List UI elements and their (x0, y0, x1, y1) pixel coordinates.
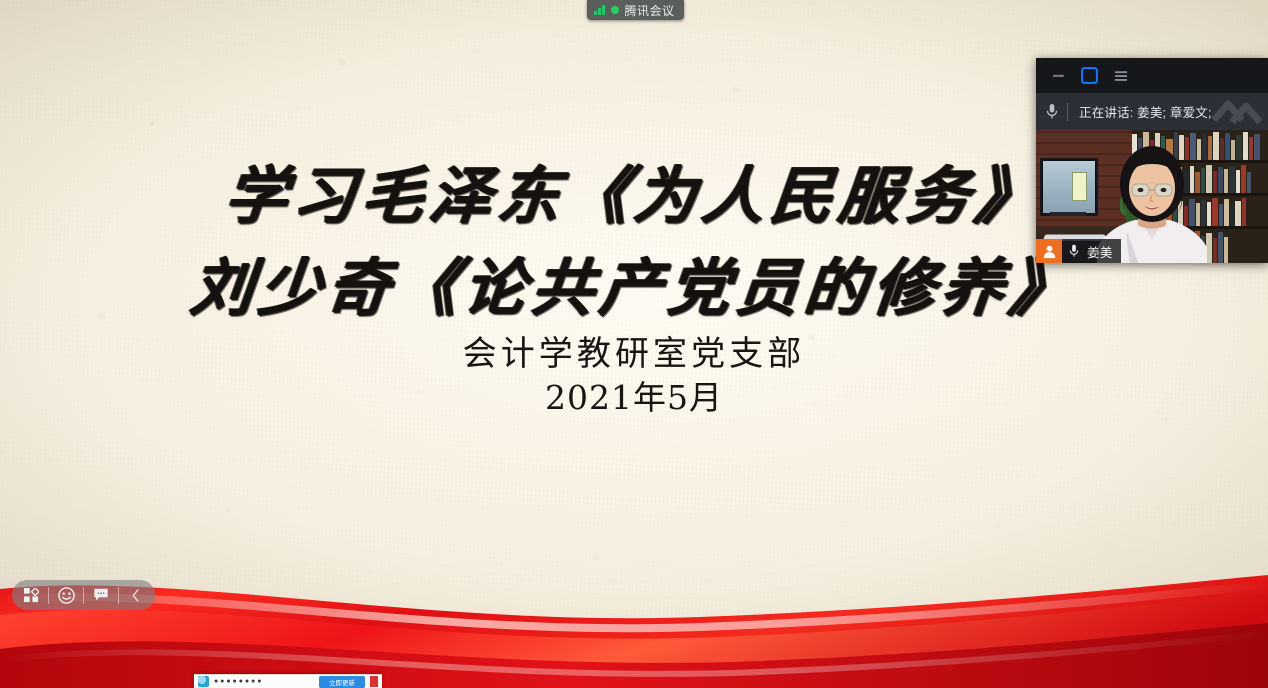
microphone-icon (1062, 239, 1086, 263)
meeting-app-label: 腾讯会议 (625, 2, 675, 19)
red-silk-ribbon-decoration (0, 553, 1268, 688)
toolbar-divider (83, 587, 84, 604)
microphone-icon (1036, 103, 1067, 120)
popup-message: ● ● ● ● ● ● ● ● (214, 678, 314, 685)
speaking-status-text: 正在讲话: 姜美; 章爱文; (1068, 102, 1212, 121)
signal-bars-icon (594, 5, 605, 15)
ppt-presenter-toolbar[interactable] (12, 580, 155, 610)
app-icon (198, 676, 209, 687)
computer-monitor (1040, 158, 1098, 216)
slide-subtitle-block: 会计学教研室党支部 2021年5月 (0, 332, 1268, 420)
bottom-notification-popup[interactable]: ● ● ● ● ● ● ● ● 立即更新 (194, 674, 382, 688)
toolbar-divider (118, 587, 119, 604)
slide-subtitle: 会计学教研室党支部 (0, 332, 1268, 376)
monitor-stand (1050, 212, 1086, 216)
meeting-video-panel[interactable]: 正在讲话: 姜美; 章爱文; (1036, 58, 1268, 263)
video-panel-titlebar[interactable] (1036, 58, 1268, 93)
close-icon[interactable] (370, 676, 378, 687)
tencent-meeting-top-pill[interactable]: 腾讯会议 (587, 0, 684, 20)
restore-window-icon[interactable] (1081, 67, 1098, 84)
chevron-left-icon[interactable] (123, 582, 149, 608)
green-status-dot-icon (611, 6, 619, 14)
double-chevron-watermark-icon (1210, 96, 1262, 130)
toolbar-divider (48, 587, 49, 604)
annotation-icon[interactable] (88, 582, 114, 608)
participant-name-label: 姜美 (1086, 239, 1121, 263)
participant-video-tile[interactable]: 姜美 (1036, 130, 1268, 263)
popup-action-button[interactable]: 立即更新 (319, 676, 365, 688)
person-icon (1036, 239, 1062, 263)
slide-grid-icon[interactable] (18, 582, 44, 608)
emoji-pen-icon[interactable] (53, 582, 79, 608)
minimize-icon[interactable] (1050, 67, 1067, 84)
participant-name-bar: 姜美 (1036, 239, 1121, 263)
hamburger-menu-icon[interactable] (1112, 67, 1129, 84)
speaking-status-bar: 正在讲话: 姜美; 章爱文; (1036, 93, 1268, 130)
slide-date: 2021年5月 (0, 376, 1268, 420)
